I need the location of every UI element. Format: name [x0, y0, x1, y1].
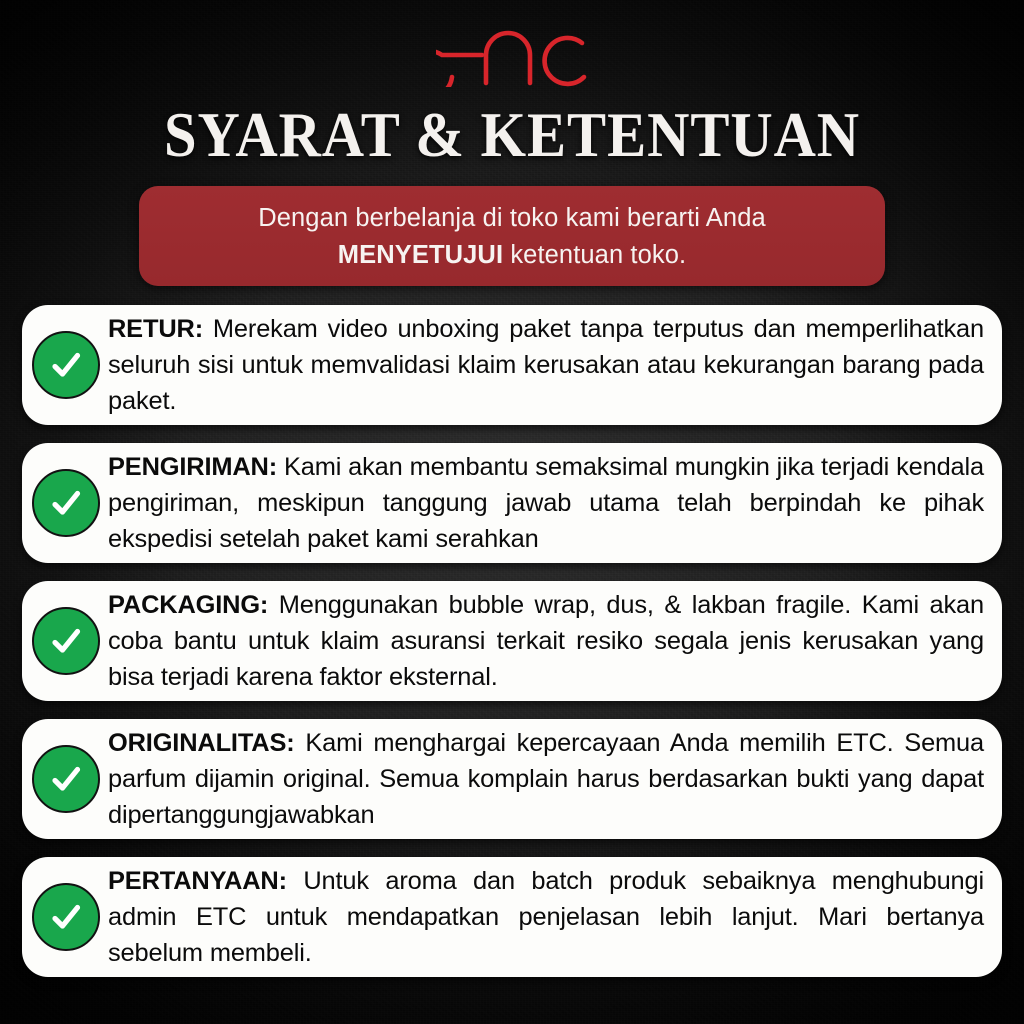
term-text: ORIGINALITAS: Kami menghargai kepercayaa… [108, 725, 1002, 833]
banner-line-2: MENYETUJUI ketentuan toko. [338, 238, 686, 272]
list-item: ORIGINALITAS: Kami menghargai kepercayaa… [22, 719, 1002, 839]
terms-and-conditions-poster: SYARAT & KETENTUAN Dengan berbelanja di … [0, 0, 1024, 1024]
check-circle-icon [32, 745, 100, 813]
list-item: RETUR: Merekam video unboxing paket tanp… [22, 305, 1002, 425]
terms-list: RETUR: Merekam video unboxing paket tanp… [22, 305, 1002, 977]
banner-line-2-rest: ketentuan toko. [503, 241, 686, 269]
agreement-banner: Dengan berbelanja di toko kami berarti A… [139, 186, 885, 286]
term-text: PACKAGING: Menggunakan bubble wrap, dus,… [108, 587, 1002, 695]
check-circle-icon [32, 469, 100, 537]
brand-logo [0, 18, 1024, 94]
term-text: PERTANYAAN: Untuk aroma dan batch produk… [108, 863, 1002, 971]
check-circle-icon [32, 883, 100, 951]
term-label: RETUR: [108, 315, 203, 343]
page-title: SYARAT & KETENTUAN [36, 100, 988, 170]
term-description: Merekam video unboxing paket tanpa terpu… [108, 315, 984, 415]
term-label: PACKAGING: [108, 591, 268, 619]
banner-emphasis: MENYETUJUI [338, 241, 503, 269]
check-circle-icon [32, 607, 100, 675]
banner-line-1: Dengan berbelanja di toko kami berarti A… [258, 201, 766, 235]
etc-logo-icon [436, 25, 588, 87]
list-item: PERTANYAAN: Untuk aroma dan batch produk… [22, 857, 1002, 977]
term-label: ORIGINALITAS: [108, 729, 295, 757]
list-item: PACKAGING: Menggunakan bubble wrap, dus,… [22, 581, 1002, 701]
list-item: PENGIRIMAN: Kami akan membantu semaksima… [22, 443, 1002, 563]
term-text: RETUR: Merekam video unboxing paket tanp… [108, 311, 1002, 419]
term-label: PERTANYAAN: [108, 867, 287, 895]
term-label: PENGIRIMAN: [108, 453, 277, 481]
term-text: PENGIRIMAN: Kami akan membantu semaksima… [108, 449, 1002, 557]
check-circle-icon [32, 331, 100, 399]
